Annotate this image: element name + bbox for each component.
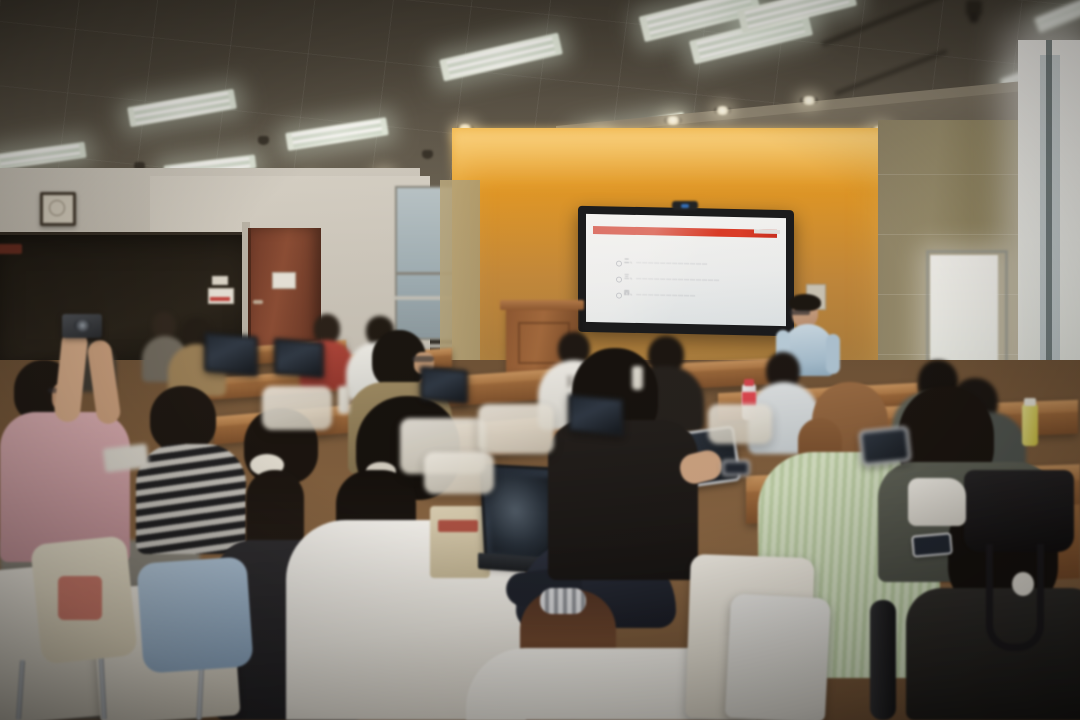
bottle-cap: [1024, 398, 1036, 406]
wall-notice-sign-small: [212, 276, 228, 285]
slide-screen: 二、……………………………… 三、…………………………………… 四、…………………: [586, 214, 786, 326]
slide-accent-bar: [593, 226, 777, 238]
glasses-icon: [790, 310, 810, 315]
ceiling-downlight: [664, 116, 682, 125]
attendee-head: [152, 312, 176, 339]
camera[interactable]: [62, 314, 102, 338]
attendee-body: [548, 420, 698, 580]
water-bottle: [338, 386, 350, 414]
presenter-arm: [826, 334, 840, 374]
laptop-screen[interactable]: [420, 366, 468, 404]
slide-bullet-line: 四、…………………………: [624, 291, 696, 299]
laptop-screen-image: [488, 474, 556, 556]
attendee-head: [150, 386, 216, 452]
smartphone[interactable]: [722, 460, 750, 476]
chair[interactable]: [478, 404, 554, 454]
smartphone[interactable]: [911, 532, 953, 557]
chair[interactable]: [424, 452, 494, 494]
wall-clock: [40, 192, 76, 226]
water-bottle: [632, 366, 643, 390]
ceiling-speaker-icon: [422, 150, 433, 159]
bag-charm: [1012, 572, 1034, 596]
chair[interactable]: [262, 386, 332, 430]
slide-bullet-line: 三、……………………………………: [624, 275, 720, 283]
presenter-hair: [789, 294, 821, 311]
slide-accent-bar-tail: [754, 229, 780, 234]
tote-bag-print: [438, 520, 478, 532]
slide-bullet-line: 二、………………………………: [624, 259, 708, 267]
lecture-hall-photo: 二、……………………………… 三、…………………………………… 四、…………………: [0, 0, 1080, 720]
video-conference-camera-icon: [672, 201, 698, 210]
chalkboard-marker-tray: [0, 244, 22, 254]
tablet[interactable]: [858, 425, 911, 466]
attendee-striped-top: [136, 444, 246, 554]
glasses-icon: [412, 356, 434, 362]
wall-notice-sign: [208, 288, 234, 304]
slide-bullet-marker: [616, 277, 622, 283]
laptop-screen[interactable]: [204, 332, 258, 377]
bottle-cap: [744, 379, 754, 386]
tea-bottle: [1022, 404, 1038, 446]
laptop-screen[interactable]: [568, 394, 624, 437]
accent-wall-glow: [452, 130, 892, 190]
slide-bullet-marker: [616, 293, 622, 299]
ceiling-camera-icon: [966, 0, 982, 16]
chair-armrest: [870, 600, 896, 720]
chair[interactable]: [725, 593, 831, 720]
plastic-bag: [908, 478, 966, 526]
handbag-strap: [986, 544, 1044, 651]
tote-bag-print: [58, 576, 102, 620]
ceiling-downlight: [714, 106, 731, 115]
lectern-top: [500, 300, 584, 310]
door-handle[interactable]: [253, 300, 263, 304]
ceiling-speaker-icon: [258, 136, 269, 145]
blue-jacket: [136, 556, 253, 673]
slide-bullet-marker: [616, 261, 622, 267]
chair[interactable]: [708, 404, 772, 444]
ceiling-downlight: [800, 96, 818, 105]
beaded-hair-tie: [540, 588, 586, 614]
laptop-screen[interactable]: [274, 338, 324, 378]
door-notice-sign: [272, 272, 296, 289]
black-handbag: [964, 470, 1074, 552]
